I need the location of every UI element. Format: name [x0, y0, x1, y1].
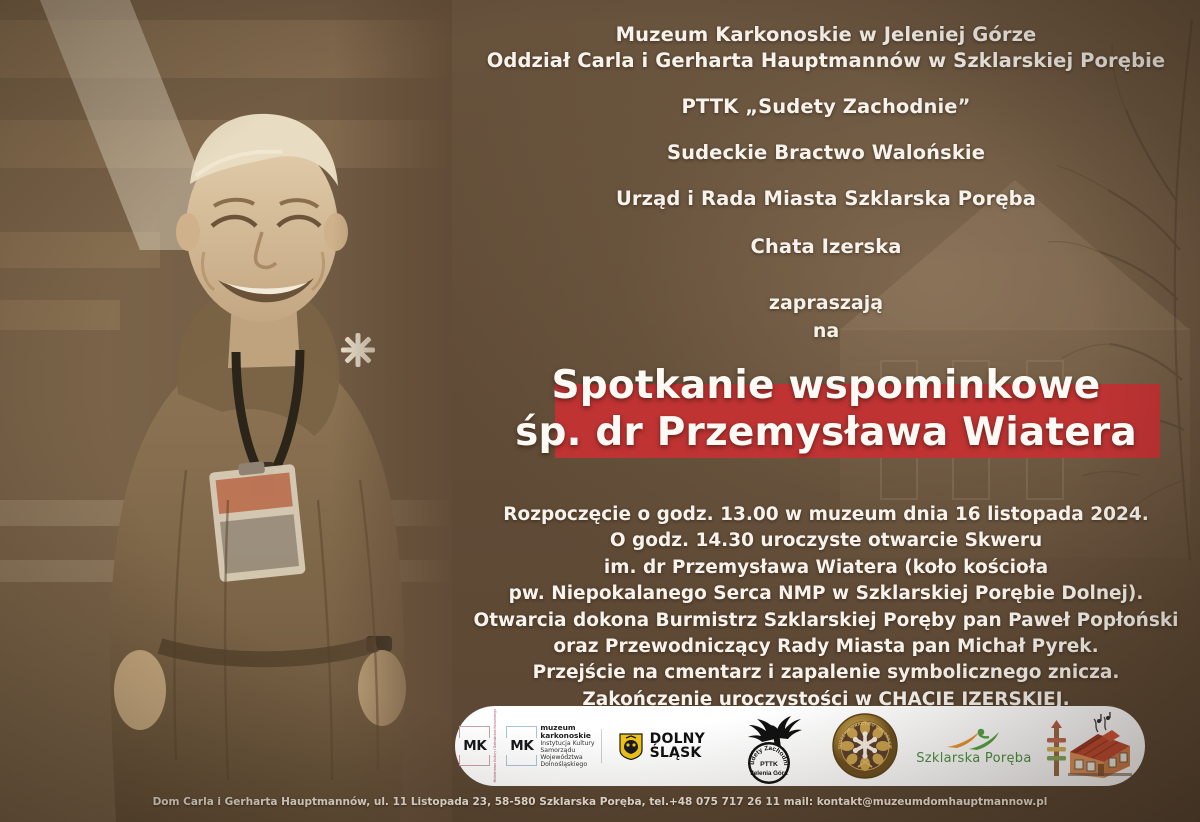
title-line-2: śp. dr Przemysława Wiatera	[452, 409, 1200, 456]
mk-museum-name: muzeum karkonoskie Instytucja Kultury Sa…	[540, 724, 596, 768]
dolny-slask-line-1: DOLNY	[650, 732, 705, 746]
detail-line-3: im. dr Przemysława Wiatera (koło kościoł…	[452, 555, 1200, 581]
chata-izerska-hut-icon	[1042, 710, 1138, 782]
szklarska-poreba-swoosh-icon	[945, 727, 1003, 751]
detail-line-2: O godz. 14.30 uroczyste otwarcie Skweru	[452, 528, 1200, 554]
sudeckie-bractwo-walonskie-seal: SUDECKIE BRACTWO WALOŃSKIE	[816, 711, 914, 781]
pttk-sudety-zachodnie-logo: Sudety Zachodnie PTTK Jelenia Góra	[722, 711, 816, 781]
walloon-brotherhood-seal-icon: SUDECKIE BRACTWO WALOŃSKIE	[832, 713, 898, 779]
contact-footer: Dom Carla i Gerharta Hauptmannów, ul. 11…	[0, 795, 1200, 809]
chata-izerska-logo	[1034, 711, 1145, 781]
organizer-line-1: Muzeum Karkonoskie w Jeleniej Górze	[452, 0, 1200, 48]
organizer-line-3: PTTK „Sudety Zachodnie”	[452, 94, 1200, 120]
mk-ministry-sidetext-pink: Ministerstwo Kultury i Dziedzictwa Narod…	[493, 709, 503, 782]
mk-museum-name-bold: muzeum karkonoskie	[540, 724, 596, 740]
szklarska-poreba-wordmark: Szklarska Poręba	[916, 751, 1031, 766]
invitation-verb: zapraszają	[452, 290, 1200, 316]
dolny-slask-line-2: ŚLĄSK	[650, 746, 705, 760]
organizer-line-6: Chata Izerska	[452, 234, 1200, 260]
mk-ministry-logo: MK Ministerstwo Kultury i Dziedzictwa Na…	[455, 711, 601, 781]
mk-museum-name-sub: Instytucja Kultury Samorządu Województwa…	[540, 740, 594, 768]
mk-mark-blue-icon: MK	[506, 726, 537, 766]
portrait-photo	[0, 0, 452, 822]
organizer-line-5: Urząd i Rada Miasta Szklarska Poręba	[452, 186, 1200, 212]
pttk-deer-icon: Sudety Zachodnie PTTK Jelenia Góra	[731, 708, 807, 784]
content-column: Muzeum Karkonoskie w Jeleniej Górze Oddz…	[452, 0, 1200, 822]
svg-text:Jelenia Góra: Jelenia Góra	[750, 770, 788, 777]
dolny-slask-logo: DOLNY ŚLĄSK	[602, 711, 722, 781]
szklarska-poreba-logo: Szklarska Poręba	[914, 711, 1034, 781]
detail-line-6: oraz Przewodniczący Rady Miasta pan Mich…	[452, 634, 1200, 660]
detail-line-5: Otwarcia dokona Burmistrz Szklarskiej Po…	[452, 608, 1200, 634]
detail-line-4: pw. Niepokalanego Serca NMP w Szklarskie…	[452, 581, 1200, 607]
organizer-line-2: Oddział Carla i Gerharta Hauptmannów w S…	[452, 48, 1200, 74]
invitation-preposition: na	[452, 318, 1200, 344]
svg-text:PTTK: PTTK	[760, 761, 778, 768]
title-line-1: Spotkanie wspominkowe	[452, 362, 1200, 409]
mk-mark-pink-icon: MK	[459, 726, 490, 766]
title-block: Spotkanie wspominkowe śp. dr Przemysława…	[452, 362, 1200, 478]
sponsor-logo-bar: MK Ministerstwo Kultury i Dziedzictwa Na…	[455, 706, 1145, 786]
detail-line-7: Przejście na cmentarz i zapalenie symbol…	[452, 660, 1200, 686]
organizer-line-4: Sudeckie Bractwo Walońskie	[452, 140, 1200, 166]
dolny-slask-crest-icon	[619, 733, 643, 760]
memorial-event-poster: Muzeum Karkonoskie w Jeleniej Górze Oddz…	[0, 0, 1200, 822]
detail-line-1: Rozpoczęcie o godz. 13.00 w muzeum dnia …	[452, 502, 1200, 528]
event-details: Rozpoczęcie o godz. 13.00 w muzeum dnia …	[452, 502, 1200, 713]
